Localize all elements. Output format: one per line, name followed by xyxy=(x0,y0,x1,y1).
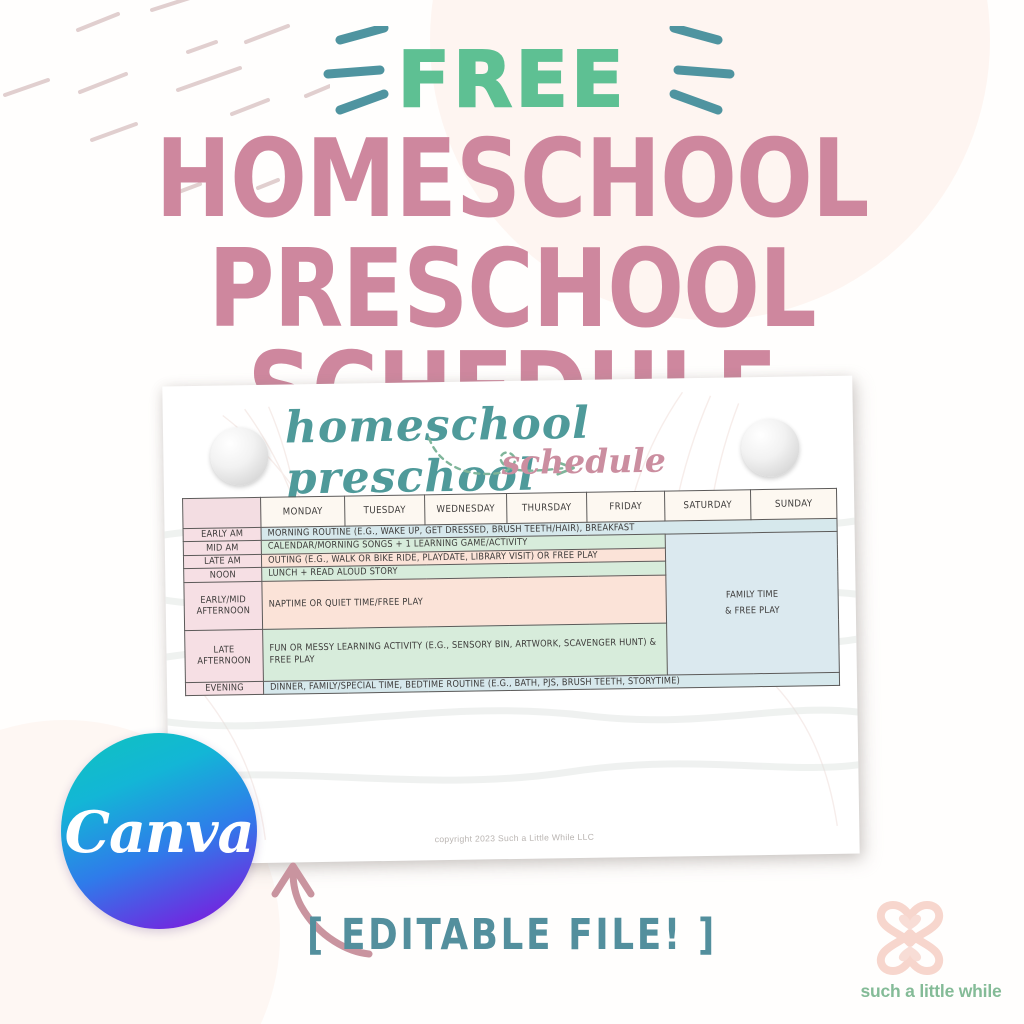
row-time-label: NOON xyxy=(184,568,262,583)
row-time-label: LATE AM xyxy=(183,554,261,569)
poster-canvas: FREE HOMESCHOOL PRESCHOOL SCHEDULE xyxy=(0,0,1024,1024)
day-header-tuesday: TUESDAY xyxy=(345,495,425,526)
hourglass-heart-logo-icon xyxy=(867,895,953,981)
row-time-text: LATE AM xyxy=(204,556,241,568)
row-time-text: EVENING xyxy=(205,682,244,694)
editable-file-label: [ EDITABLE FILE! ] xyxy=(41,910,983,960)
day-header-monday: MONDAY xyxy=(261,496,345,527)
day-header-thursday: THURSDAY xyxy=(507,492,587,523)
row-time-label: EVENING xyxy=(185,681,263,696)
canva-badge[interactable]: Canva xyxy=(61,733,257,929)
sheet-title-script-bottom: schedule xyxy=(501,441,666,483)
row-time-label: MID AM xyxy=(183,541,261,556)
brand-logo: such a little while xyxy=(845,895,1017,1013)
day-header-wednesday: WEDNESDAY xyxy=(425,494,507,525)
copyright-text: copyright 2023 Such a Little While LLC xyxy=(169,828,859,849)
family-time-cell: FAMILY TIME & FREE PLAY xyxy=(665,532,839,675)
schedule-sheet: homeschool preschool schedule MONDAY TUE… xyxy=(162,376,859,865)
row-time-label: EARLY AM xyxy=(183,527,261,542)
table-corner-cell xyxy=(183,497,261,528)
title-line-1: HOMESCHOOL xyxy=(36,128,988,232)
row-time-text: MID AM xyxy=(206,542,239,554)
family-time-line-2: & FREE PLAY xyxy=(673,602,832,620)
row-time-text-2: AFTERNOON xyxy=(191,605,256,618)
sheet-header: homeschool preschool schedule xyxy=(162,376,854,497)
day-header-sunday: SUNDAY xyxy=(750,488,836,519)
row-time-label: LATE AFTERNOON xyxy=(185,629,264,682)
brand-name-label: such a little while xyxy=(845,981,1017,1002)
schedule-table: MONDAY TUESDAY WEDNESDAY THURSDAY FRIDAY… xyxy=(182,488,840,696)
starburst-lines-icon xyxy=(630,26,740,122)
free-badge: FREE xyxy=(0,18,1024,128)
row-time-text: NOON xyxy=(210,569,236,580)
canva-label: Canva xyxy=(61,799,257,866)
row-activity: FUN OR MESSY LEARNING ACTIVITY (E.G., SE… xyxy=(263,623,668,681)
row-activity: NAPTIME OR QUIET TIME/FREE PLAY xyxy=(262,575,667,629)
row-time-label: EARLY/MID AFTERNOON xyxy=(184,581,263,630)
magnet-dot-icon xyxy=(210,427,269,486)
day-header-saturday: SATURDAY xyxy=(664,490,750,521)
row-time-text: EARLY AM xyxy=(201,529,243,541)
row-time-text-2: AFTERNOON xyxy=(192,655,257,668)
day-header-friday: FRIDAY xyxy=(587,491,665,522)
row-time-text: EARLY/MID xyxy=(191,594,256,607)
sheet-title-group: homeschool preschool schedule xyxy=(272,385,754,493)
free-label: FREE xyxy=(397,42,626,119)
